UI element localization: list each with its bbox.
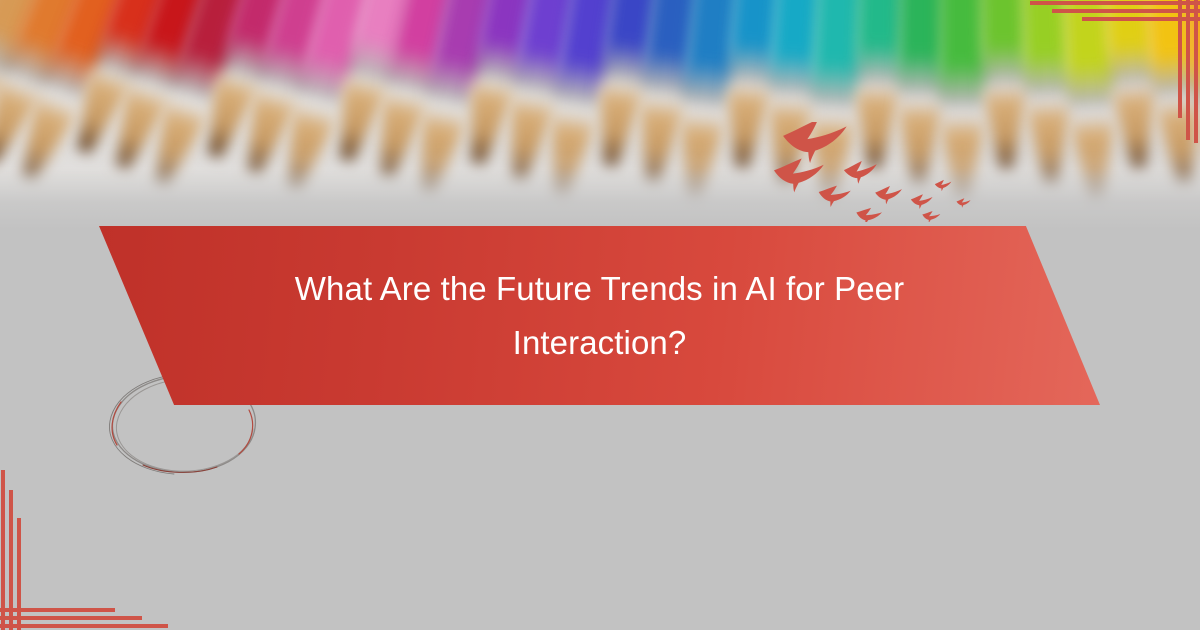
corner-rule-h5 [0,616,142,620]
bird-icon [922,211,941,222]
corner-decoration-bottom-left [0,470,170,630]
corner-rule-v6 [17,518,21,630]
corner-rule-v2 [1186,0,1190,140]
bird-icon [911,194,933,209]
bird-icon [935,179,952,191]
corner-rule-h6 [0,624,168,628]
bird-icon [956,198,970,208]
bird-icon [856,207,883,222]
bird-icon [843,159,878,185]
page-title: What Are the Future Trends in AI for Pee… [250,262,950,369]
birds-icon [770,122,1020,222]
bird-icon [774,158,825,193]
corner-rule-v4 [1,470,5,630]
corner-rule-v3 [1194,0,1198,143]
corner-rule-h4 [0,608,115,612]
bird-icon [875,185,903,204]
bird-icon [782,122,849,165]
corner-rule-h1 [1030,1,1200,5]
corner-rule-v1 [1178,0,1182,118]
corner-decoration-top-right [1030,0,1200,160]
corner-rule-h3 [1082,17,1200,21]
hero-card: What Are the Future Trends in AI for Pee… [0,0,1200,630]
title-banner: What Are the Future Trends in AI for Pee… [99,226,1100,405]
photo-bottom-fade [0,168,1200,228]
bird-icon [818,185,851,208]
pencils-photo [0,0,1200,228]
birds-flock-decoration [770,122,1020,222]
